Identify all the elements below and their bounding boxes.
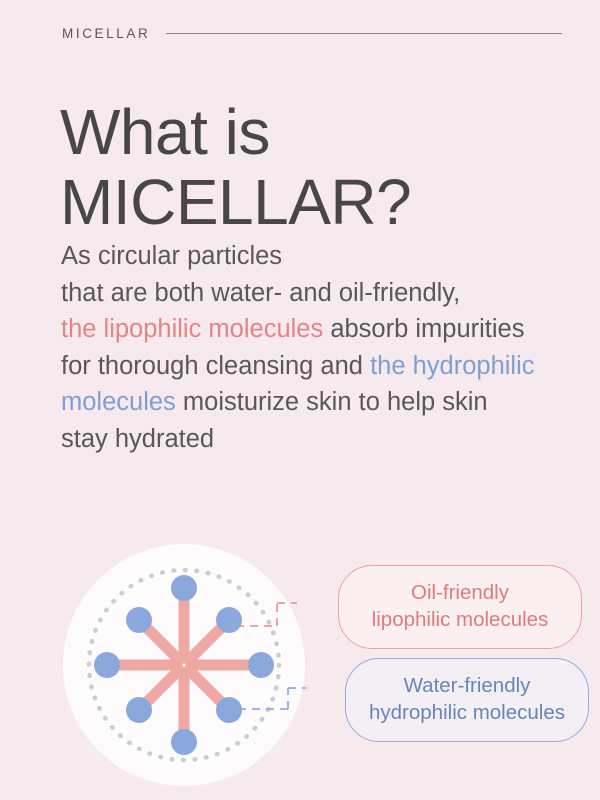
head-s	[171, 729, 197, 755]
body-line-5: molecules moisturize skin to help skin	[61, 384, 591, 421]
body-line-3: the lipophilic molecules absorb impuriti…	[61, 311, 591, 348]
page-title: What is MICELLAR?	[60, 97, 411, 237]
body-line-3-rest: absorb impurities	[323, 315, 524, 343]
body-line-4: for thorough cleansing and the hydrophil…	[61, 348, 591, 385]
head-se	[216, 697, 242, 723]
head-n	[171, 575, 197, 601]
head-ne	[216, 607, 242, 633]
page-title-line-2: MICELLAR?	[60, 167, 411, 237]
lipophilic-highlight: the lipophilic molecules	[61, 315, 323, 343]
callout-water-line-1: Water-friendly	[346, 672, 588, 699]
header-divider-rule	[166, 33, 562, 34]
head-e	[248, 652, 274, 678]
hydrophilic-highlight-b: molecules	[61, 388, 176, 416]
callout-oil-friendly[interactable]: Oil-friendly lipophilic molecules	[338, 565, 582, 649]
page-title-line-1: What is	[60, 97, 411, 167]
body-line-6: stay hydrated	[61, 421, 591, 458]
callout-water-friendly[interactable]: Water-friendly hydrophilic molecules	[345, 658, 589, 742]
head-w	[94, 652, 120, 678]
body-line-1: As circular particles	[61, 238, 591, 275]
eyebrow-label: MICELLAR	[62, 26, 150, 41]
body-paragraph: As circular particles that are both wate…	[61, 238, 591, 457]
body-line-4-pre: for thorough cleansing and	[61, 352, 370, 380]
body-line-5-rest: moisturize skin to help skin	[176, 388, 488, 416]
callout-oil-line-2: lipophilic molecules	[339, 606, 581, 633]
callout-water-line-2: hydrophilic molecules	[346, 699, 588, 726]
head-nw	[126, 607, 152, 633]
callout-oil-line-1: Oil-friendly	[339, 579, 581, 606]
header-eyebrow-row: MICELLAR	[62, 26, 562, 41]
body-line-2: that are both water- and oil-friendly,	[61, 275, 591, 312]
hydrophilic-highlight-a: the hydrophilic	[370, 352, 534, 380]
head-sw	[126, 697, 152, 723]
